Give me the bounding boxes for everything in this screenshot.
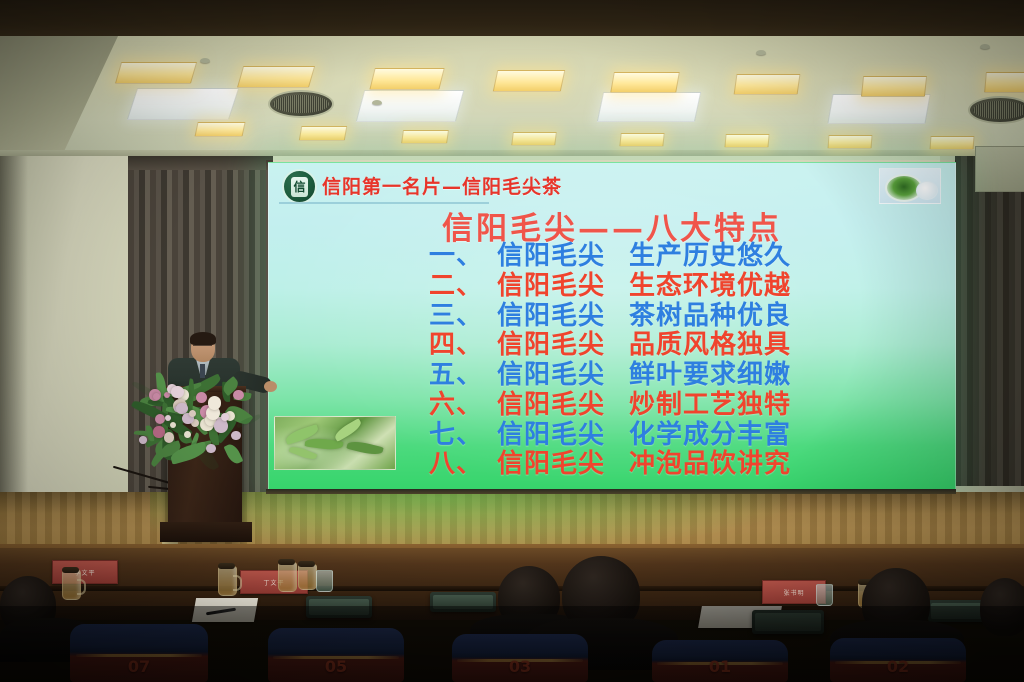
feature-index: 一、 [429, 243, 497, 270]
feature-brand: 信阳毛尖 [497, 451, 629, 478]
seat-number: 01 [652, 657, 788, 676]
stage-curtain-right [955, 156, 1024, 486]
laptop-screen [433, 595, 493, 609]
seat-01[interactable]: 01 [652, 640, 788, 682]
feature-brand: 信阳毛尖 [497, 243, 629, 270]
smoke-detector-icon [372, 100, 382, 105]
feature-brand: 信阳毛尖 [497, 332, 629, 359]
seat-number: 07 [70, 657, 208, 676]
tea-cup-shape [916, 181, 938, 200]
feature-index: 七、 [429, 422, 497, 449]
feature-text: 炒制工艺独特 [629, 392, 791, 419]
flower-bloom [231, 431, 240, 440]
glasses-icon [193, 345, 212, 350]
slide-feature-item: 六、信阳毛尖炒制工艺独特 [429, 392, 955, 419]
ceiling-light-panel-cool [597, 92, 701, 122]
emblem-glyph: 信 [291, 177, 308, 197]
feature-brand: 信阳毛尖 [497, 273, 629, 300]
tea-cup [218, 566, 237, 596]
ceiling-light-panel-warm [369, 68, 444, 90]
ceiling-vent-icon [968, 96, 1024, 124]
feature-brand: 信阳毛尖 [497, 362, 629, 389]
slide-feature-item: 四、信阳毛尖品质风格独具 [429, 332, 955, 359]
laptop-screen [309, 599, 369, 615]
ceiling-light-panel-warm [237, 66, 315, 88]
seat-02[interactable]: 02 [830, 638, 966, 682]
slide-header: 信 信阳第一名片—信阳毛尖茶 [269, 165, 955, 203]
curtain-rail [128, 156, 273, 170]
smoke-detector-icon [200, 58, 210, 63]
slide-feature-item: 五、信阳毛尖鲜叶要求细嫩 [429, 362, 955, 389]
slide-feature-item: 七、信阳毛尖化学成分丰富 [429, 422, 955, 449]
ceiling-vent-icon [268, 90, 334, 118]
seat-03[interactable]: 03 [452, 634, 588, 682]
feature-index: 四、 [429, 332, 497, 359]
tea-leaves-photo [274, 416, 396, 470]
slide-feature-item: 一、信阳毛尖生产历史悠久 [429, 243, 955, 270]
ceiling-light-panel-warm [511, 132, 557, 146]
leaf-shape [333, 418, 364, 442]
podium-base [160, 522, 252, 542]
flower-bloom [196, 392, 207, 403]
feature-text: 生产历史悠久 [629, 243, 791, 270]
flower-bloom [214, 419, 228, 433]
tea-cup-icon [879, 168, 941, 204]
ceiling-light-panel-cool [827, 94, 930, 124]
smoke-detector-icon [756, 50, 766, 55]
flower-bloom [153, 393, 160, 400]
laptop-device[interactable] [306, 596, 372, 618]
feature-index: 五、 [429, 362, 497, 389]
feature-brand: 信阳毛尖 [497, 303, 629, 330]
speaker-tie [200, 364, 205, 378]
feature-text: 化学成分丰富 [629, 422, 791, 449]
feature-index: 三、 [429, 303, 497, 330]
ceiling-light-panel-warm [828, 135, 873, 149]
flower-bloom [155, 414, 165, 424]
flower-bloom [153, 426, 164, 437]
ceiling-light-panel-warm [724, 134, 769, 148]
tea-cup [62, 570, 81, 600]
cup-handle [77, 579, 86, 595]
ceiling [0, 0, 1024, 160]
ceiling-light-panel-warm [619, 133, 664, 147]
ceiling-light-panel-warm [299, 126, 348, 141]
slide-feature-item: 三、信阳毛尖茶树品种优良 [429, 303, 955, 330]
feature-text: 茶树品种优良 [629, 303, 791, 330]
cup-handle [233, 575, 242, 591]
flower-bouquet [133, 378, 257, 460]
ac-vent-panel [975, 146, 1024, 192]
ceiling-light-panel-cool [127, 88, 239, 120]
ceiling-light-panel-warm [930, 136, 975, 150]
flower-bloom [189, 410, 196, 417]
ceiling-dark-band [0, 0, 1024, 40]
feature-brand: 信阳毛尖 [497, 422, 629, 449]
water-glass [816, 584, 833, 606]
feature-text: 品质风格独具 [629, 332, 791, 359]
ceiling-light-panel-warm [493, 70, 566, 92]
tea-cup [298, 564, 317, 590]
smoke-detector-icon [980, 44, 990, 49]
seat-number: 05 [268, 657, 404, 676]
xinyang-emblem-icon: 信 [282, 169, 317, 204]
screen-bottom-edge [266, 489, 956, 494]
slide-header-text: 信阳第一名片—信阳毛尖茶 [322, 172, 562, 199]
flower-bloom [164, 432, 174, 442]
flower-bloom [139, 436, 147, 444]
water-glass [316, 570, 333, 592]
feature-index: 八、 [429, 451, 497, 478]
seat-number: 02 [830, 657, 966, 676]
ceiling-light-panel-warm [194, 122, 245, 137]
slide-feature-item: 二、信阳毛尖生态环境优越 [429, 273, 955, 300]
slide-title: 信阳毛尖——八大特点 [269, 203, 955, 248]
speaker-hair [190, 332, 216, 345]
ceiling-light-panel-warm [115, 62, 197, 84]
projection-screen: 信 信阳第一名片—信阳毛尖茶 信阳毛尖——八大特点 一、信阳毛尖生产历史悠久二、… [268, 162, 956, 493]
laptop-screen [755, 613, 821, 631]
seat-05[interactable]: 05 [268, 628, 404, 682]
flower-bloom [171, 386, 184, 399]
ceiling-light-panel-warm [610, 72, 680, 93]
cup-lid [62, 567, 79, 573]
flower-bloom [208, 396, 221, 409]
speaker-hand [264, 381, 277, 392]
feature-index: 二、 [429, 273, 497, 300]
feature-brand: 信阳毛尖 [497, 392, 629, 419]
slide-feature-item: 八、信阳毛尖冲泡品饮讲究 [429, 451, 955, 478]
tea-cup [278, 562, 297, 592]
ceiling-light-panel-warm [984, 72, 1024, 93]
cup-lid [278, 559, 295, 565]
audience-head [980, 578, 1024, 636]
ceiling-light-panel-cool [356, 90, 465, 122]
laptop-device[interactable] [430, 592, 496, 612]
laptop-device[interactable] [752, 610, 824, 634]
ceiling-light-panel-warm [734, 74, 801, 95]
leaf-shape [346, 439, 383, 457]
feature-text: 冲泡品饮讲究 [629, 451, 791, 478]
feature-text: 生态环境优越 [629, 273, 791, 300]
cup-lid [298, 561, 315, 567]
left-wall-shadow [0, 156, 28, 526]
seat-number: 03 [452, 657, 588, 676]
ceiling-light-panel-warm [401, 130, 449, 144]
auditorium-scene: 信 信阳第一名片—信阳毛尖茶 信阳毛尖——八大特点 一、信阳毛尖生产历史悠久二、… [0, 0, 1024, 682]
feature-index: 六、 [429, 392, 497, 419]
ceiling-light-panel-warm [861, 76, 927, 97]
flower-bloom [206, 444, 216, 454]
cup-lid [218, 563, 235, 569]
seat-07[interactable]: 07 [70, 624, 208, 682]
feature-text: 鲜叶要求细嫩 [629, 362, 791, 389]
